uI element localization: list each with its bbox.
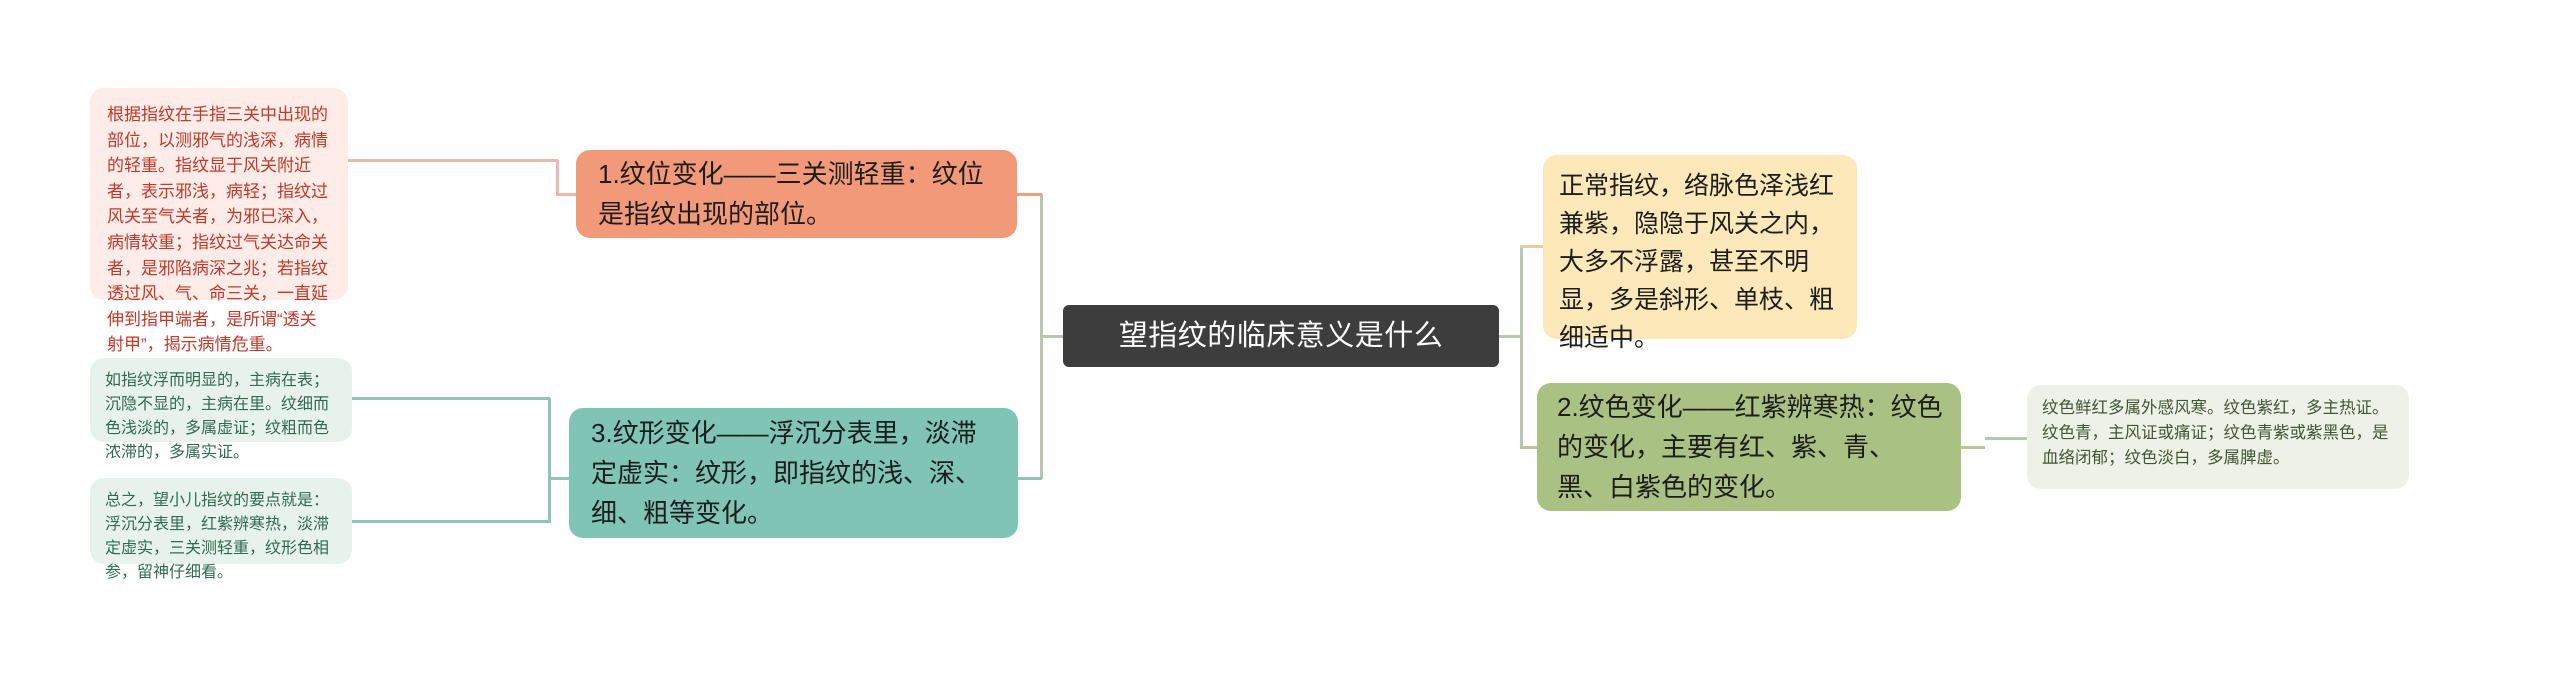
branch-teal-text: 3.纹形变化——浮沉分表里，淡滞定虚实：纹形，即指纹的浅、深、细、粗等变化。 bbox=[591, 413, 1000, 533]
mindmap-canvas: 根据指纹在手指三关中出现的部位，以测邪气的浅深，病情的轻重。指纹显于风关附近者，… bbox=[0, 0, 2560, 688]
connector-to-sage-note bbox=[1985, 437, 2029, 440]
note-pink-text: 根据指纹在手指三关中出现的部位，以测邪气的浅深，病情的轻重。指纹显于风关附近者，… bbox=[107, 102, 332, 358]
note-mint1-text: 如指纹浮而明显的，主病在表；沉隐不显的，主病在里。纹细而色浅淡的，多属虚证；纹粗… bbox=[105, 369, 337, 465]
note-summary-detail[interactable]: 总之，望小儿指纹的要点就是：浮沉分表里，红紫辨寒热，淡滞定虚实，三关测轻重，纹形… bbox=[90, 478, 352, 564]
branch-1-wenwei-bianhua[interactable]: 1.纹位变化——三关测轻重：纹位是指纹出现的部位。 bbox=[576, 150, 1017, 238]
note-fingerprint-position-detail[interactable]: 根据指纹在手指三关中出现的部位，以测邪气的浅深，病情的轻重。指纹显于风关附近者，… bbox=[90, 88, 348, 300]
connector-right-spine bbox=[1520, 246, 1523, 448]
note-sage-text: 纹色鲜红多属外感风寒。纹色紫红，多主热证。纹色青，主风证或痛证；纹色青紫或紫黑色… bbox=[2042, 396, 2394, 471]
center-topic[interactable]: 望指纹的临床意义是什么 bbox=[1063, 305, 1499, 367]
connector-to-mint2 bbox=[350, 520, 550, 523]
note-mint2-text: 总之，望小儿指纹的要点就是：浮沉分表里，红紫辨寒热，淡滞定虚实，三关测轻重，纹形… bbox=[105, 489, 337, 585]
connector-pink-spine bbox=[556, 160, 559, 195]
connector-to-pink-note bbox=[346, 159, 558, 162]
connector-to-orange bbox=[1016, 193, 1042, 196]
branch-3-wenxing-bianhua[interactable]: 3.纹形变化——浮沉分表里，淡滞定虚实：纹形，即指纹的浅、深、细、粗等变化。 bbox=[569, 408, 1018, 538]
branch-olive-text: 2.纹色变化——红紫辨寒热：纹色的变化，主要有红、紫、青、黑、白紫色的变化。 bbox=[1557, 387, 1943, 507]
branch-2-wense-bianhua[interactable]: 2.纹色变化——红紫辨寒热：纹色的变化，主要有红、紫、青、黑、白紫色的变化。 bbox=[1537, 383, 1961, 511]
branch-orange-text: 1.纹位变化——三关测轻重：纹位是指纹出现的部位。 bbox=[598, 154, 997, 234]
connector-mint-spine bbox=[548, 398, 551, 523]
connector-to-teal bbox=[1016, 477, 1042, 480]
note-color-meaning-detail[interactable]: 纹色鲜红多属外感风寒。纹色紫红，多主热证。纹色青，主风证或痛证；纹色青紫或紫黑色… bbox=[2027, 385, 2409, 489]
connector-olive-right-stub bbox=[1959, 446, 1985, 449]
note-yellow-text: 正常指纹，络脉色泽浅红兼紫，隐隐于风关之内，大多不浮露，甚至不明显，多是斜形、单… bbox=[1559, 167, 1841, 357]
note-normal-fingerprint-detail[interactable]: 正常指纹，络脉色泽浅红兼紫，隐隐于风关之内，大多不浮露，甚至不明显，多是斜形、单… bbox=[1543, 155, 1857, 339]
connector-center-left-stub bbox=[1040, 335, 1064, 338]
connector-to-mint1 bbox=[350, 397, 550, 400]
center-topic-text: 望指纹的临床意义是什么 bbox=[1063, 319, 1499, 353]
note-fuchen-biaoli-detail[interactable]: 如指纹浮而明显的，主病在表；沉隐不显的，主病在里。纹细而色浅淡的，多属虚证；纹粗… bbox=[90, 358, 352, 442]
connector-left-spine bbox=[1040, 194, 1043, 479]
